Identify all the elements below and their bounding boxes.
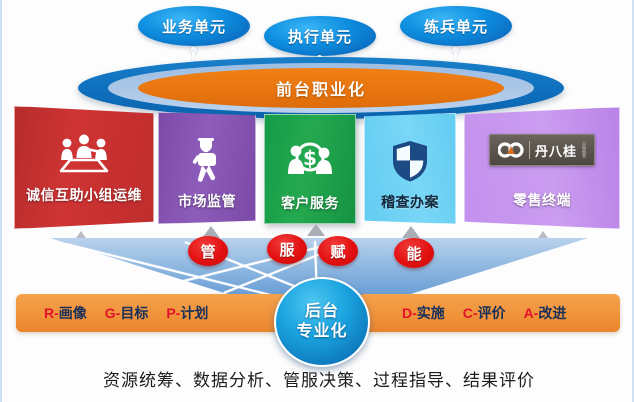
phase-key: P- bbox=[166, 305, 180, 321]
meeting-group-icon bbox=[57, 129, 111, 179]
phase-key: R- bbox=[44, 305, 59, 321]
phase-item-a: A-改进 bbox=[524, 303, 567, 323]
up-arrow-icon bbox=[538, 231, 548, 238]
keyword-label: 能 bbox=[406, 243, 421, 264]
phase-item-p: P-计划 bbox=[166, 303, 208, 323]
back-office-core[interactable]: 后台 专业化 bbox=[274, 277, 370, 367]
keyword-label: 服 bbox=[279, 239, 294, 260]
phase-item-c: C-评价 bbox=[463, 303, 506, 323]
phase-key: D- bbox=[402, 305, 417, 321]
unit-pill-execution[interactable]: 执行单元 bbox=[264, 16, 376, 56]
core-label-line1: 后台 bbox=[305, 302, 339, 322]
up-arrow-icon bbox=[76, 231, 86, 238]
keyword-label: 赋 bbox=[330, 241, 345, 262]
phase-value: 画像 bbox=[59, 305, 87, 321]
phase-item-r: R-画像 bbox=[44, 303, 87, 323]
panel-inspection-cases[interactable]: 稽查办案 bbox=[364, 113, 456, 224]
diagram-caption: 资源统筹、数据分析、管服决策、过程指导、结果评价 bbox=[2, 366, 634, 391]
sign-divider bbox=[529, 141, 530, 159]
keyword-label: 管 bbox=[200, 241, 215, 262]
up-arrow-icon bbox=[402, 226, 420, 238]
panel-retail-terminal[interactable]: 丹八桂 中国烟草 零售终端 bbox=[464, 107, 620, 229]
panel-market-supervision[interactable]: 市场监管 bbox=[158, 112, 256, 224]
phase-value: 目标 bbox=[120, 305, 148, 321]
phase-value: 实施 bbox=[417, 305, 445, 321]
panel-label: 零售终端 bbox=[513, 190, 571, 210]
keyword-badge-fu[interactable]: 服 bbox=[267, 234, 307, 264]
front-office-label: 前台职业化 bbox=[276, 76, 366, 100]
keyword-badge-guan[interactable]: 管 bbox=[188, 236, 228, 266]
diagram-canvas: 业务单元 执行单元 练兵单元 前台职业化 bbox=[0, 0, 634, 402]
phase-key: A- bbox=[524, 305, 539, 321]
patrol-officer-icon bbox=[189, 135, 225, 185]
phase-key: C- bbox=[463, 305, 478, 321]
infinity-logo-icon bbox=[498, 142, 524, 158]
shield-icon bbox=[391, 136, 429, 186]
keyword-badge-neng[interactable]: 能 bbox=[394, 238, 434, 268]
retail-sign-subtext: 中国烟草 bbox=[582, 142, 586, 158]
unit-pill-business[interactable]: 业务单元 bbox=[138, 6, 250, 46]
phase-value: 改进 bbox=[538, 305, 566, 321]
panel-label: 稽查办案 bbox=[381, 192, 439, 212]
panel-integrity-group-ops[interactable]: 诚信互助小组运维 bbox=[14, 106, 154, 229]
up-arrow-icon bbox=[307, 224, 325, 236]
retail-store-sign-icon: 丹八桂 中国烟草 bbox=[489, 134, 595, 166]
phase-value: 评价 bbox=[478, 305, 506, 321]
unit-pill-training[interactable]: 练兵单元 bbox=[400, 6, 512, 46]
unit-pill-label: 执行单元 bbox=[288, 26, 352, 47]
panel-label: 客户服务 bbox=[281, 193, 339, 213]
keyword-badge-fu2[interactable]: 赋 bbox=[318, 236, 358, 266]
plan-phase-bar-right[interactable]: D-实施 C-评价 A-改进 bbox=[358, 294, 620, 332]
svg-text:$: $ bbox=[303, 146, 317, 170]
front-office-ring-outer: 前台职业化 bbox=[78, 57, 564, 119]
core-label-line2: 专业化 bbox=[296, 322, 347, 342]
unit-pill-label: 业务单元 bbox=[162, 16, 226, 37]
phase-key: G- bbox=[105, 305, 121, 321]
front-office-ring-middle: 前台职业化 bbox=[108, 63, 534, 113]
phase-item-d: D-实施 bbox=[402, 303, 445, 323]
unit-pill-label: 练兵单元 bbox=[424, 16, 488, 37]
customer-money-service-icon: $ bbox=[285, 137, 335, 187]
panel-customer-service[interactable]: $ 客户服务 bbox=[264, 114, 356, 224]
phase-value: 计划 bbox=[180, 305, 208, 321]
phase-item-g: G-目标 bbox=[105, 303, 149, 323]
retail-brand-name: 丹八桂 bbox=[535, 141, 577, 160]
panel-label: 市场监管 bbox=[178, 191, 236, 211]
front-office-ring-core[interactable]: 前台职业化 bbox=[138, 68, 504, 108]
panel-label: 诚信互助小组运维 bbox=[26, 185, 142, 205]
